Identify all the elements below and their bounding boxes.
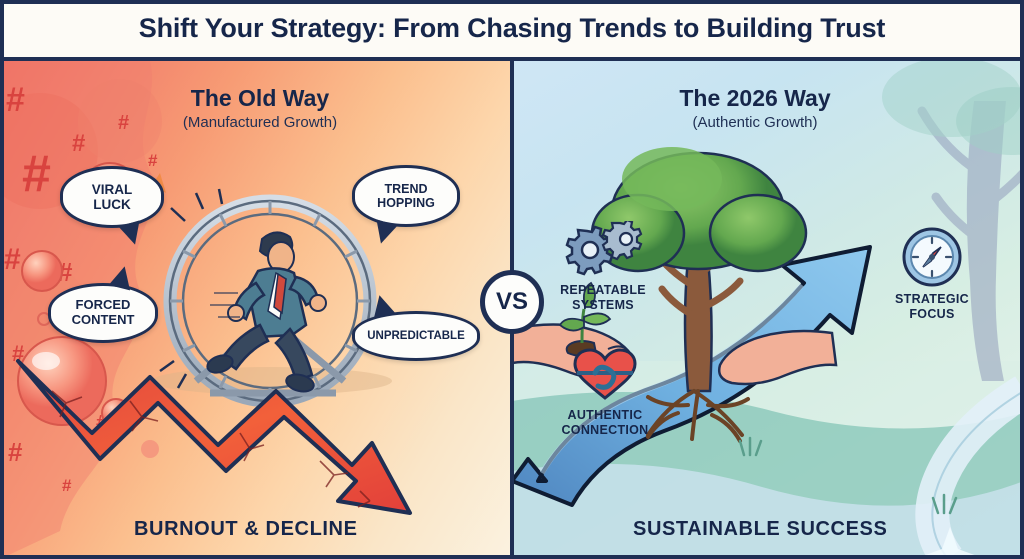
new-way-title: The 2026 Way xyxy=(605,85,905,112)
bubble-unpredictable-line1: UNPREDICTABLE xyxy=(367,330,465,343)
bubble-tail xyxy=(118,220,145,247)
grass-tufts xyxy=(740,438,956,513)
river-decoration xyxy=(932,391,1024,559)
heart-handshake-icon xyxy=(569,346,641,404)
hamster-wheel-illustration xyxy=(170,201,370,401)
bubble-tail xyxy=(370,219,397,246)
bubble-tail xyxy=(369,293,395,319)
svg-text:#: # xyxy=(6,81,25,119)
title-band: Shift Your Strategy: From Chasing Trends… xyxy=(0,0,1024,61)
bubble-forced-content-line1: FORCED xyxy=(76,298,131,313)
bubble-forced-content-line2: CONTENT xyxy=(72,313,135,328)
vs-badge: VS xyxy=(480,270,544,334)
caption-burnout-decline: BURNOUT & DECLINE xyxy=(134,518,358,541)
svg-text:#: # xyxy=(12,341,24,366)
businessman-illustration xyxy=(205,232,326,394)
svg-text:#: # xyxy=(8,437,23,467)
bubble-tail xyxy=(109,264,136,291)
old-way-title: The Old Way xyxy=(110,85,410,112)
svg-text:#: # xyxy=(72,130,85,157)
bubble-viral-luck-line1: VIRAL xyxy=(92,182,133,197)
svg-text:#: # xyxy=(148,151,158,170)
feature-line1: REPEATABLE xyxy=(560,283,646,297)
bubble-viral-luck-line2: LUCK xyxy=(93,197,131,212)
infographic-canvas: # # # # # # # # # # # # xyxy=(0,0,1024,559)
page-title: Shift Your Strategy: From Chasing Trends… xyxy=(139,13,885,44)
feature-line2: SYSTEMS xyxy=(572,298,634,312)
feature-line2: CONNECTION xyxy=(561,423,648,437)
feature-strategic-focus-label: STRATEGIC FOCUS xyxy=(872,292,992,322)
compass-icon xyxy=(901,226,963,288)
bubble-forced-content: FORCED CONTENT xyxy=(48,283,158,343)
caption-sustainable-success: SUSTAINABLE SUCCESS xyxy=(633,518,887,541)
right-panel-2026-way: The 2026 Way (Authentic Growth) REPEATAB… xyxy=(512,61,1024,559)
sparkle-decoration xyxy=(920,527,980,559)
feature-line2: FOCUS xyxy=(909,307,954,321)
gears-icon xyxy=(557,221,649,279)
descending-red-arrow xyxy=(18,361,410,513)
old-way-subtitle: (Manufactured Growth) xyxy=(110,114,410,131)
bubble-viral-luck: VIRAL LUCK xyxy=(60,166,164,228)
svg-text:#: # xyxy=(62,476,72,495)
feature-line1: STRATEGIC xyxy=(895,292,969,306)
feature-line1: AUTHENTIC xyxy=(568,408,643,422)
left-panel-old-way: # # # # # # # # # # # # xyxy=(0,61,512,559)
feature-repeatable-systems: REPEATABLE SYSTEMS xyxy=(533,221,673,313)
bubble-unpredictable: UNPREDICTABLE xyxy=(352,311,480,361)
svg-text:#: # xyxy=(96,412,107,434)
bubble-trend-hopping-line2: HOPPING xyxy=(377,196,435,210)
new-way-subtitle: (Authentic Growth) xyxy=(605,114,905,131)
right-panel-heading: The 2026 Way (Authentic Growth) xyxy=(605,85,905,131)
svg-text:#: # xyxy=(22,145,51,203)
feature-authentic-connection-label: AUTHENTIC CONNECTION xyxy=(535,408,675,438)
left-panel-heading: The Old Way (Manufactured Growth) xyxy=(110,85,410,131)
bubble-trend-hopping-line1: TREND xyxy=(384,182,427,196)
svg-text:#: # xyxy=(58,257,73,287)
bubble-trend-hopping: TREND HOPPING xyxy=(352,165,460,227)
feature-authentic-connection: AUTHENTIC CONNECTION xyxy=(535,346,675,438)
feature-repeatable-systems-label: REPEATABLE SYSTEMS xyxy=(533,283,673,313)
svg-text:#: # xyxy=(4,243,21,276)
svg-text:#: # xyxy=(46,375,63,408)
feature-strategic-focus: STRATEGIC FOCUS xyxy=(872,226,992,322)
wheel-break-sparks xyxy=(160,189,222,388)
